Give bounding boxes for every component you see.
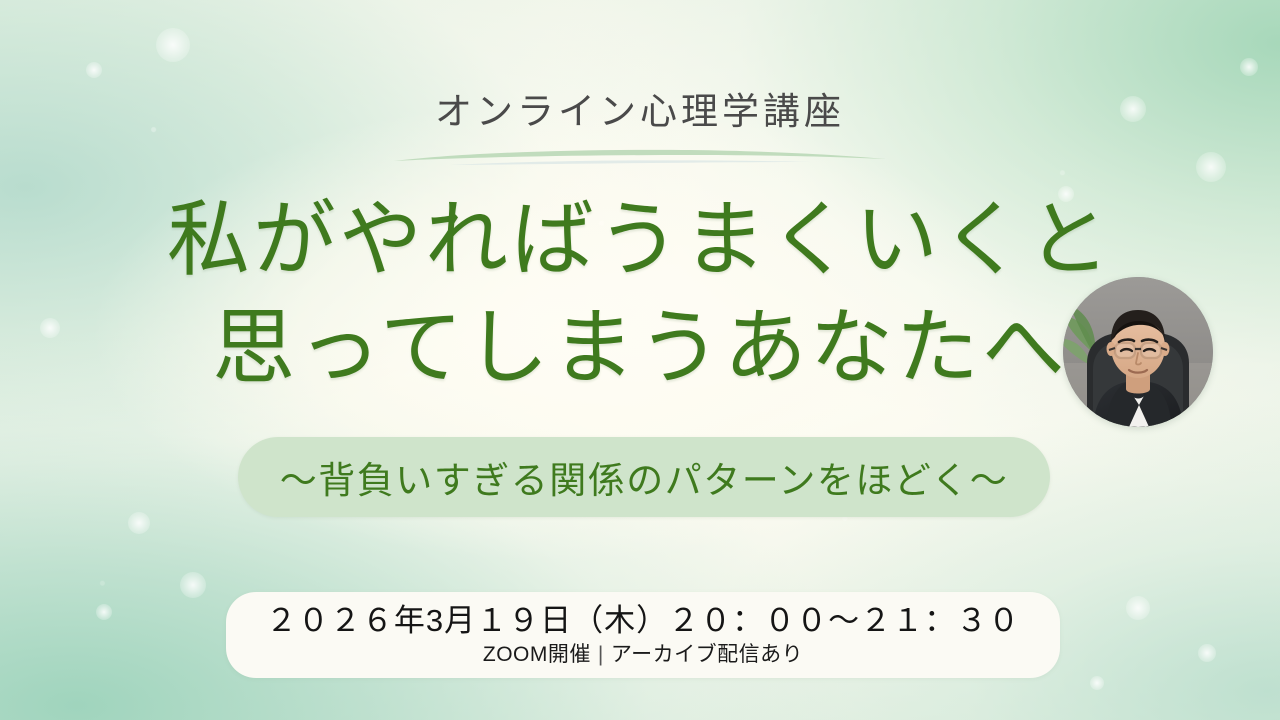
bokeh-dot [128,512,150,534]
bokeh-dot [1198,644,1216,662]
bokeh-dot [86,62,102,78]
event-datetime: ２０２６年3月１９日（木）２０：００〜２１：３０ [266,603,1020,639]
bokeh-dot [1126,596,1150,620]
bokeh-dot [1090,676,1104,690]
bokeh-dot [180,572,206,598]
info-separator: | [598,643,604,667]
bokeh-dot [96,604,112,620]
subtitle-pill: 〜背負いすぎる関係のパターンをほどく〜 [238,437,1050,517]
bokeh-dot [1196,152,1226,182]
brush-underline-decoration [390,148,890,168]
event-archive-note: アーカイブ配信あり [611,643,803,666]
presenter-photo [1063,277,1213,427]
bokeh-dot [156,28,190,62]
kicker-text: オンライン心理学講座 [0,92,1280,133]
poster-canvas: オンライン心理学講座 私がやればうまくいくと 思ってしまうあなたへ 〜背負いすぎ… [0,0,1280,720]
title-line-1: 私がやればうまくいくと [0,186,1280,294]
presenter-portrait-illustration [1063,277,1213,427]
bokeh-dot [1240,58,1258,76]
header-block: オンライン心理学講座 [0,92,1280,133]
event-platform: ZOOM開催 [483,643,591,666]
subtitle-text: 〜背負いすぎる関係のパターンをほどく〜 [280,450,1009,504]
event-delivery-info: ZOOM開催|アーカイブ配信あり [483,643,803,667]
date-card: ２０２６年3月１９日（木）２０：００〜２１：３０ ZOOM開催|アーカイブ配信あ… [226,592,1060,678]
